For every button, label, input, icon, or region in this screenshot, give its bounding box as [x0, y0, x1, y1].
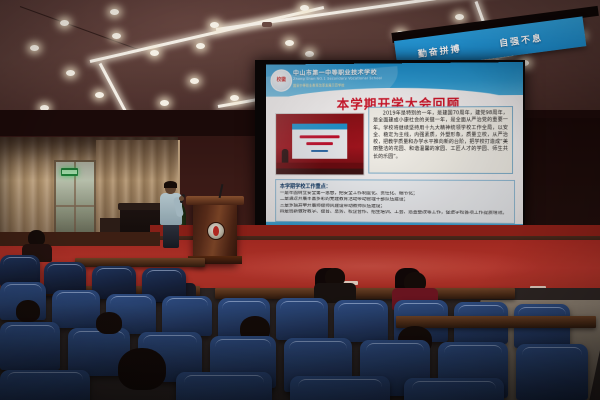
speaker-legs [163, 224, 179, 248]
school-emblem-icon [207, 222, 225, 240]
downlight-icon [66, 70, 75, 76]
auditorium-photo: 勤奋拼搏 自强不息 校徽 中山市第一中等职业技术学校 Zhong Shan NO… [0, 0, 600, 400]
audience-seat [276, 298, 328, 340]
school-logo-badge-text: 校徽 [277, 78, 286, 83]
audience-seat [162, 296, 212, 336]
downlight-icon [300, 5, 309, 11]
photo-caption-line-2 [306, 142, 333, 145]
speaker-hair [164, 181, 177, 188]
photo-caption-line-1 [300, 135, 340, 138]
downlight-icon [285, 40, 294, 46]
photo-caption-line-3 [311, 150, 328, 152]
photo-speaker [282, 149, 289, 163]
audience-seat [52, 290, 100, 328]
photo-screen-band [292, 124, 347, 130]
downlight-icon [95, 92, 104, 98]
slide-embedded-photo [275, 113, 364, 176]
slide-footer-item: 四是创新做好教学、德育、总务、校企合作、招生培训、工会、巡查整改等工作，促进学校… [280, 209, 510, 217]
downlight-icon [112, 33, 121, 39]
audience-seat [404, 378, 504, 400]
downlight-icon [60, 20, 69, 26]
downlight-icon [210, 22, 219, 28]
banner-text-2: 自强不息 [498, 31, 543, 50]
downlight-icon [305, 51, 314, 57]
downlight-icon [196, 43, 205, 49]
audience-head [96, 312, 122, 334]
audience-seat [290, 376, 390, 400]
slide-footer-heading: 本学期学校工作重点： [280, 182, 510, 191]
stage-light-pool [180, 246, 560, 286]
school-name-sub: 国家中等职业教育改革发展示范学校 [293, 82, 344, 87]
slide-body-text: 2019年是特别的一年，是建国70周年，建党98周年，是全面建成小康社会的关键一… [373, 110, 508, 161]
audience-seat [176, 372, 272, 400]
speaker-hand [179, 196, 184, 201]
downlight-icon [455, 14, 464, 20]
banner-text-1: 勤奋拼搏 [417, 41, 462, 60]
photo-screen [292, 124, 347, 159]
presentation-slide: 校徽 中山市第一中等职业技术学校 Zhong Shan NO.1 Seconda… [266, 62, 523, 237]
downlight-icon [230, 95, 239, 101]
audience-desk [396, 316, 596, 328]
projection-screen-frame: 校徽 中山市第一中等职业技术学校 Zhong Shan NO.1 Seconda… [255, 60, 525, 239]
projection-screen: 校徽 中山市第一中等职业技术学校 Zhong Shan NO.1 Seconda… [266, 62, 523, 237]
downlight-icon [110, 9, 119, 15]
podium-top [186, 196, 244, 205]
downlight-icon [150, 50, 159, 56]
slide-footer-box: 本学期学校工作重点： 一是牢固树立安全第一思想，把安全工作制度化、责任化、细节化… [275, 179, 515, 224]
audience-seat [334, 300, 388, 342]
audience-head [16, 300, 40, 322]
speaker-person [160, 182, 182, 248]
audience-seat [516, 344, 588, 400]
audience-desk [75, 258, 205, 267]
audience-head [118, 348, 166, 390]
downlight-icon [190, 78, 199, 84]
audience-seat [0, 322, 60, 370]
downlight-icon [30, 45, 39, 51]
school-logo-icon: 校徽 [270, 69, 292, 92]
photo-floor [276, 168, 363, 174]
slide-body-textbox: 2019年是特别的一年，是建国70周年，建党98周年，是全面建成小康社会的关键一… [368, 106, 513, 174]
ceiling-projector [262, 22, 272, 27]
audience-seat [0, 370, 90, 400]
school-name-en: Zhong Shan NO.1 Secondary Vocational Sch… [293, 76, 382, 81]
downlight-icon [160, 100, 169, 106]
